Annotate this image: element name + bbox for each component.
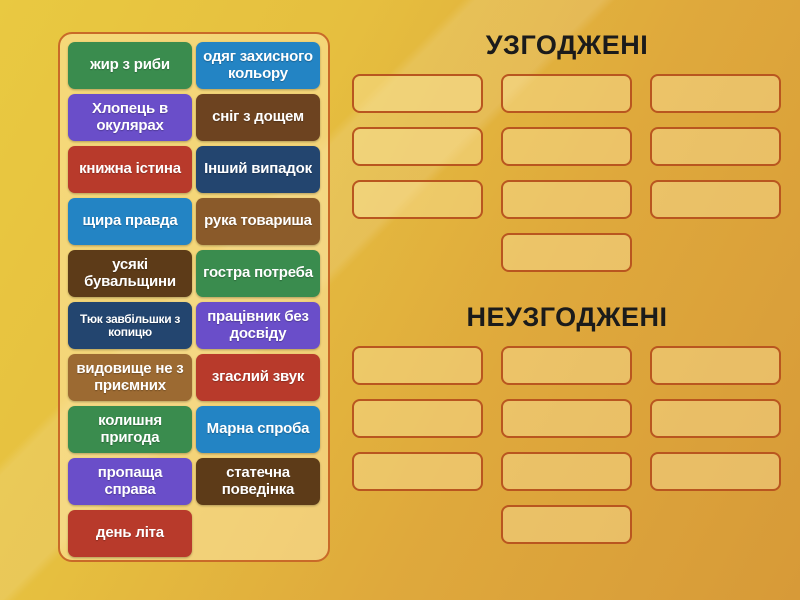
drop-slot[interactable] — [650, 127, 781, 166]
drop-slot[interactable] — [501, 399, 632, 438]
word-tile[interactable]: рука товариша — [196, 198, 320, 245]
drop-slot[interactable] — [352, 452, 483, 491]
word-tile[interactable]: Інший випадок — [196, 146, 320, 193]
drop-slot[interactable] — [501, 74, 632, 113]
category-group-agreed: УЗГОДЖЕНІ — [352, 30, 782, 272]
word-tile[interactable]: колишня пригода — [68, 406, 192, 453]
word-tile[interactable]: Марна спроба — [196, 406, 320, 453]
word-tile[interactable]: жир з риби — [68, 42, 192, 89]
word-tile[interactable]: Тюк завбільшки з копицю — [68, 302, 192, 349]
word-tile[interactable]: працівник без досвіду — [196, 302, 320, 349]
drop-slot[interactable] — [650, 346, 781, 385]
word-tile[interactable]: Хлопець в окулярах — [68, 94, 192, 141]
drop-slot[interactable] — [650, 452, 781, 491]
word-bank-tile-grid: жир з рибиодяг захисного кольоруХлопець … — [68, 42, 324, 557]
word-tile[interactable]: одяг захисного кольору — [196, 42, 320, 89]
word-tile[interactable]: гостра потреба — [196, 250, 320, 297]
word-tile[interactable]: пропаща справа — [68, 458, 192, 505]
drop-slot[interactable] — [501, 127, 632, 166]
word-tile[interactable]: книжна істина — [68, 146, 192, 193]
drop-slot[interactable] — [352, 74, 483, 113]
drop-slot[interactable] — [650, 399, 781, 438]
drop-slot[interactable] — [501, 346, 632, 385]
word-tile[interactable]: щира правда — [68, 198, 192, 245]
word-bank-panel: жир з рибиодяг захисного кольоруХлопець … — [58, 32, 330, 562]
drop-slot[interactable] — [352, 180, 483, 219]
drop-slot[interactable] — [650, 74, 781, 113]
drop-slot[interactable] — [650, 180, 781, 219]
drop-slot[interactable] — [501, 180, 632, 219]
word-tile[interactable]: день літа — [68, 510, 192, 557]
word-tile[interactable]: сніг з дощем — [196, 94, 320, 141]
group-title-disagreed: НЕУЗГОДЖЕНІ — [352, 302, 782, 333]
word-tile[interactable]: статечна поведінка — [196, 458, 320, 505]
drop-slot[interactable] — [501, 505, 632, 544]
drop-slot-grid-agreed — [352, 74, 782, 272]
word-tile[interactable]: усякі бувальщини — [68, 250, 192, 297]
drop-slot[interactable] — [352, 346, 483, 385]
drop-slot[interactable] — [501, 233, 632, 272]
group-title-agreed: УЗГОДЖЕНІ — [352, 30, 782, 61]
drop-slot[interactable] — [501, 452, 632, 491]
drop-slot[interactable] — [352, 399, 483, 438]
drop-slot-grid-disagreed — [352, 346, 782, 544]
word-tile[interactable]: видовище не з приємних — [68, 354, 192, 401]
drop-slot[interactable] — [352, 127, 483, 166]
category-group-disagreed: НЕУЗГОДЖЕНІ — [352, 302, 782, 544]
word-tile[interactable]: згаслий звук — [196, 354, 320, 401]
activity-canvas: жир з рибиодяг захисного кольоруХлопець … — [0, 0, 800, 600]
